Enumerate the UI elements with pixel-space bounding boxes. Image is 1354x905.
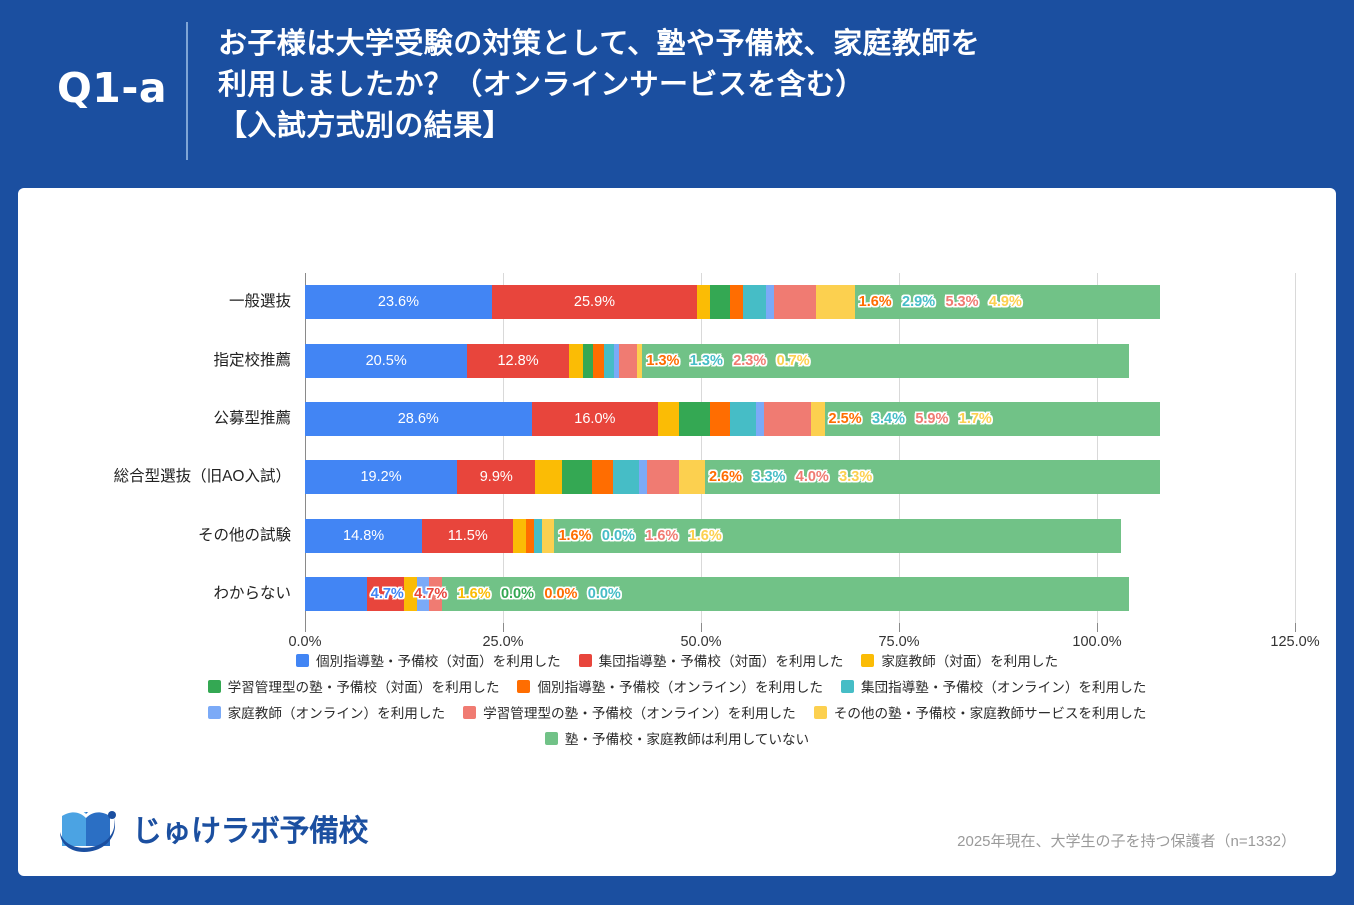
data-label: 28.6%	[398, 402, 439, 436]
data-label: 0.0%	[588, 577, 621, 611]
data-label: 4.7%	[371, 577, 404, 611]
legend-item[interactable]: 家庭教師（対面）を利用した	[861, 650, 1058, 670]
data-label: 4.9%	[989, 285, 1022, 319]
bar-segment[interactable]	[756, 402, 764, 436]
x-tick-line	[899, 623, 900, 632]
bar-row: 総合型選抜（旧AO入試）19.2%9.9%2.6%3.3%4.0%3.3%	[305, 460, 1295, 494]
data-label: 2.5%	[829, 402, 862, 436]
legend-item[interactable]: 学習管理型の塾・予備校（対面）を利用した	[208, 676, 500, 696]
legend-swatch-icon	[814, 706, 827, 719]
bar-segment[interactable]	[583, 344, 593, 378]
data-label: 19.2%	[360, 460, 401, 494]
category-label: 総合型選抜（旧AO入試）	[114, 460, 291, 494]
category-label: 公募型推薦	[213, 402, 291, 436]
bar-segment[interactable]	[816, 285, 855, 319]
legend-label: 個別指導塾・予備校（対面）を利用した	[316, 650, 561, 670]
data-label: 1.6%	[689, 519, 722, 553]
data-label: 9.9%	[480, 460, 513, 494]
legend-label: 個別指導塾・予備校（オンライン）を利用した	[537, 676, 822, 696]
brand-name: じゅけラボ予備校	[132, 806, 368, 850]
question-tag: Q1-a	[42, 64, 182, 112]
data-label: 1.6%	[859, 285, 892, 319]
category-label: 指定校推薦	[213, 344, 291, 378]
bar-segment[interactable]	[534, 519, 542, 553]
jukelabo-logo-icon	[56, 802, 122, 854]
data-label: 0.0%	[501, 577, 534, 611]
bar-segment[interactable]	[613, 460, 639, 494]
data-label: 2.6%	[709, 460, 742, 494]
x-tick-label: 25.0%	[482, 634, 523, 650]
category-label: わからない	[213, 577, 291, 611]
bar-segment[interactable]	[658, 402, 679, 436]
bar-row: 一般選抜23.6%25.9%1.6%2.9%5.3%4.9%	[305, 285, 1295, 319]
legend-swatch-icon	[463, 706, 476, 719]
legend-item[interactable]: 個別指導塾・予備校（対面）を利用した	[296, 650, 561, 670]
bar-row: その他の試験14.8%11.5%1.6%0.0%1.6%1.6%	[305, 519, 1295, 553]
data-label: 0.0%	[544, 577, 577, 611]
question-title: お子様は大学受験の対策として、塾や予備校、家庭教師を 利用しましたか？（オンライ…	[218, 24, 1308, 148]
data-label: 1.6%	[645, 519, 678, 553]
legend-item[interactable]: 学習管理型の塾・予備校（オンライン）を利用した	[463, 702, 796, 722]
bar-segment[interactable]	[743, 285, 766, 319]
bar-segment[interactable]	[592, 460, 613, 494]
bar-rows: 一般選抜23.6%25.9%1.6%2.9%5.3%4.9%指定校推薦20.5%…	[305, 273, 1295, 623]
bar-segment[interactable]	[679, 460, 705, 494]
bar-segment[interactable]	[526, 519, 534, 553]
bar-segment[interactable]	[774, 285, 816, 319]
bar-segment[interactable]	[730, 402, 757, 436]
legend-swatch-icon	[579, 654, 592, 667]
data-label: 16.0%	[574, 402, 615, 436]
chart-card: 一般選抜23.6%25.9%1.6%2.9%5.3%4.9%指定校推薦20.5%…	[18, 188, 1336, 876]
bar-segment[interactable]	[730, 285, 743, 319]
x-tick-label: 100.0%	[1072, 634, 1121, 650]
legend-item[interactable]: 塾・予備校・家庭教師は利用していない	[545, 728, 809, 748]
data-label: 4.7%	[414, 577, 447, 611]
legend-item[interactable]: 家庭教師（オンライン）を利用した	[208, 702, 446, 722]
bar-segment[interactable]	[619, 344, 637, 378]
question-line-1: お子様は大学受験の対策として、塾や予備校、家庭教師を	[218, 24, 1308, 65]
legend-label: 塾・予備校・家庭教師は利用していない	[565, 728, 809, 748]
legend-swatch-icon	[545, 732, 558, 745]
brand-logo: じゅけラボ予備校	[56, 802, 368, 854]
legend-swatch-icon	[296, 654, 309, 667]
data-label: 0.0%	[602, 519, 635, 553]
bar-segment[interactable]	[554, 519, 1120, 553]
x-tick-label: 50.0%	[680, 634, 721, 650]
bar-segment[interactable]	[604, 344, 614, 378]
data-label: 1.3%	[646, 344, 679, 378]
bar-segment[interactable]	[305, 577, 367, 611]
x-tick-line	[503, 623, 504, 632]
bar-segment[interactable]	[542, 519, 555, 553]
data-label: 20.5%	[366, 344, 407, 378]
x-axis: 0.0%25.0%50.0%75.0%100.0%125.0%	[305, 623, 1295, 653]
bar-segment[interactable]	[562, 460, 592, 494]
legend-row: 個別指導塾・予備校（対面）を利用した集団指導塾・予備校（対面）を利用した家庭教師…	[18, 650, 1336, 670]
category-label: その他の試験	[198, 519, 291, 553]
chart-legend: 個別指導塾・予備校（対面）を利用した集団指導塾・予備校（対面）を利用した家庭教師…	[18, 650, 1336, 754]
legend-row: 学習管理型の塾・予備校（対面）を利用した個別指導塾・予備校（オンライン）を利用し…	[18, 676, 1336, 696]
bar-segment[interactable]	[513, 519, 526, 553]
header-divider	[186, 22, 188, 160]
plot-area: 一般選抜23.6%25.9%1.6%2.9%5.3%4.9%指定校推薦20.5%…	[305, 273, 1295, 623]
data-label: 3.3%	[839, 460, 872, 494]
legend-label: 家庭教師（オンライン）を利用した	[228, 702, 446, 722]
data-label: 3.4%	[872, 402, 905, 436]
legend-label: 集団指導塾・予備校（対面）を利用した	[599, 650, 844, 670]
data-label: 5.9%	[915, 402, 948, 436]
legend-label: その他の塾・予備校・家庭教師サービスを利用した	[834, 702, 1147, 722]
x-tick-line	[305, 623, 306, 632]
legend-swatch-icon	[208, 706, 221, 719]
sample-note: 2025年現在、大学生の子を持つ保護者（n=1332）	[957, 830, 1296, 851]
legend-swatch-icon	[861, 654, 874, 667]
stacked-bar	[305, 285, 1160, 319]
data-label: 3.3%	[752, 460, 785, 494]
data-label: 14.8%	[343, 519, 384, 553]
bar-segment[interactable]	[697, 285, 710, 319]
legend-label: 集団指導塾・予備校（オンライン）を利用した	[861, 676, 1146, 696]
bar-row: わからない4.7%4.7%1.6%0.0%0.0%0.0%	[305, 577, 1295, 611]
x-tick-line	[701, 623, 702, 632]
legend-swatch-icon	[841, 680, 854, 693]
legend-swatch-icon	[517, 680, 530, 693]
legend-label: 家庭教師（対面）を利用した	[881, 650, 1058, 670]
data-label: 4.0%	[796, 460, 829, 494]
bar-row: 指定校推薦20.5%12.8%1.3%1.3%2.3%0.7%	[305, 344, 1295, 378]
x-tick-label: 75.0%	[878, 634, 919, 650]
data-label: 2.3%	[733, 344, 766, 378]
bar-row: 公募型推薦28.6%16.0%2.5%3.4%5.9%1.7%	[305, 402, 1295, 436]
gridline-125	[1295, 273, 1296, 623]
question-line-3: 【入試方式別の結果】	[218, 106, 1308, 147]
slide-root: Q1-a お子様は大学受験の対策として、塾や予備校、家庭教師を 利用しましたか？…	[0, 0, 1354, 905]
x-tick-label: 0.0%	[288, 634, 321, 650]
data-label: 1.6%	[558, 519, 591, 553]
data-label: 0.7%	[777, 344, 810, 378]
data-label: 1.6%	[458, 577, 491, 611]
data-label: 25.9%	[574, 285, 615, 319]
x-tick-line	[1097, 623, 1098, 632]
bar-segment[interactable]	[811, 402, 824, 436]
bar-segment[interactable]	[766, 285, 774, 319]
data-label: 5.3%	[945, 285, 978, 319]
bar-segment[interactable]	[639, 460, 647, 494]
legend-item[interactable]: その他の塾・予備校・家庭教師サービスを利用した	[814, 702, 1147, 722]
bar-segment[interactable]	[535, 460, 562, 494]
bar-segment[interactable]	[710, 285, 731, 319]
data-label: 1.7%	[959, 402, 992, 436]
bar-segment[interactable]	[764, 402, 811, 436]
legend-swatch-icon	[208, 680, 221, 693]
category-label: 一般選抜	[229, 285, 291, 319]
data-label: 11.5%	[448, 519, 488, 553]
question-line-2: 利用しましたか？（オンラインサービスを含む）	[218, 65, 1308, 106]
bar-segment[interactable]	[647, 460, 679, 494]
legend-label: 学習管理型の塾・予備校（対面）を利用した	[228, 676, 500, 696]
footer: じゅけラボ予備校 2025年現在、大学生の子を持つ保護者（n=1332）	[18, 788, 1336, 876]
legend-label: 学習管理型の塾・予備校（オンライン）を利用した	[483, 702, 796, 722]
legend-item[interactable]: 個別指導塾・予備校（オンライン）を利用した	[517, 676, 822, 696]
data-label: 23.6%	[378, 285, 419, 319]
bar-segment[interactable]	[593, 344, 603, 378]
x-tick-line	[1295, 623, 1296, 632]
x-tick-label: 125.0%	[1270, 634, 1319, 650]
data-label: 2.9%	[902, 285, 935, 319]
bar-segment[interactable]	[569, 344, 583, 378]
header: Q1-a お子様は大学受験の対策として、塾や予備校、家庭教師を 利用しましたか？…	[0, 0, 1354, 188]
legend-item[interactable]: 集団指導塾・予備校（オンライン）を利用した	[841, 676, 1146, 696]
bar-segment[interactable]	[679, 402, 710, 436]
legend-row: 家庭教師（オンライン）を利用した学習管理型の塾・予備校（オンライン）を利用したそ…	[18, 702, 1336, 722]
data-label: 12.8%	[497, 344, 538, 378]
legend-item[interactable]: 集団指導塾・予備校（対面）を利用した	[579, 650, 844, 670]
legend-row: 塾・予備校・家庭教師は利用していない	[18, 728, 1336, 748]
bar-segment[interactable]	[710, 402, 730, 436]
data-label: 1.3%	[690, 344, 723, 378]
